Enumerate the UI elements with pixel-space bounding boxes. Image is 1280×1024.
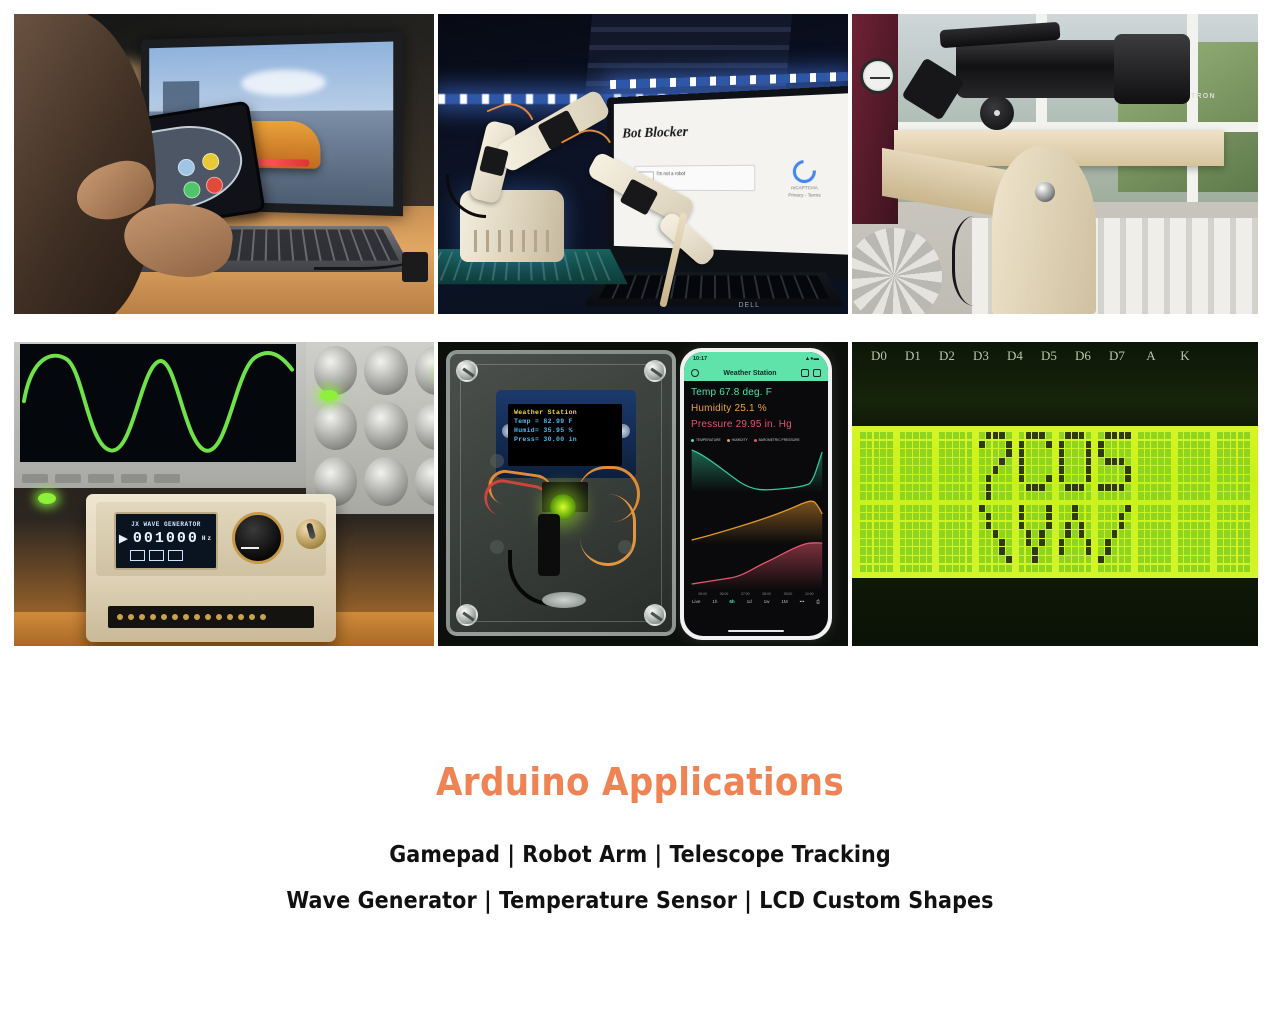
screw-top-right	[644, 360, 666, 382]
subtitle-line-2: Wave Generator | Temperature Sensor | LC…	[0, 888, 1280, 914]
setting-circle-dial	[860, 58, 896, 94]
pin-label: D2	[930, 348, 964, 364]
lcd-character	[860, 432, 893, 500]
button-red[interactable]	[205, 175, 224, 194]
lcd-character	[1217, 505, 1250, 573]
lcd-frequency-unit: Hz	[202, 535, 213, 542]
page-title: Arduino Applications	[0, 760, 1280, 804]
pin-label: D5	[1032, 348, 1066, 364]
focus-knob[interactable]	[980, 96, 1014, 130]
lcd-character	[1019, 505, 1052, 573]
range-live[interactable]: Live	[692, 599, 700, 604]
captcha-label: I'm not a robot	[656, 171, 685, 177]
pin-label: D7	[1100, 348, 1134, 364]
share-icon[interactable]	[813, 369, 821, 377]
chart-icon[interactable]	[801, 369, 809, 377]
chart-legend: TEMPERATURE HUMIDITY BAROMETRIC PRESSURE	[684, 438, 828, 442]
more-icon[interactable]: •••	[800, 599, 805, 604]
reading-temperature: Temp 67.8 deg. F	[691, 387, 821, 398]
oled-line-temp: Temp = 82.99 F	[514, 417, 616, 426]
recaptcha-terms: Privacy - Terms	[784, 192, 826, 198]
sine-waveform	[20, 344, 296, 462]
screw-top-left	[456, 360, 478, 382]
reading-pressure: Pressure 29.95 in. Hg	[691, 419, 821, 430]
legend-pressure: BAROMETRIC PRESSURE	[754, 438, 800, 442]
wave-generator-lcd: JX WAVE GENERATOR ▶ 001000 Hz	[114, 512, 218, 570]
laptop-screen: Bot Blocker I'm not a robot reCAPTCHA Pr…	[614, 93, 848, 255]
image-gallery-grid: Bot Blocker I'm not a robot reCAPTCHA Pr…	[14, 14, 1266, 646]
oscilloscope-screen	[20, 344, 296, 462]
square-icon	[149, 550, 164, 561]
history-icon[interactable]	[691, 369, 699, 377]
lcd-cursor-icon: ▶	[119, 529, 130, 548]
caption-block: Arduino Applications Gamepad | Robot Arm…	[0, 760, 1280, 934]
lcd-pcb-top: D0 D1 D2 D3 D4 D5 D6 D7 A K	[852, 342, 1258, 426]
lcd-character	[1019, 432, 1052, 500]
readings-panel: Temp 67.8 deg. F Humidity 25.1 % Pressur…	[684, 381, 828, 437]
gallery-tile-weather-station[interactable]: Weather Station Temp = 82.99 F Humid= 35…	[438, 342, 848, 646]
laptop-brand: DELL	[738, 302, 760, 309]
action-buttons[interactable]	[176, 152, 224, 200]
lcd-character	[1098, 505, 1131, 573]
gallery-tile-wave-generator[interactable]: JX WAVE GENERATOR ▶ 001000 Hz	[14, 342, 434, 646]
subtitle-line-1: Gamepad | Robot Arm | Telescope Tracking	[0, 842, 1280, 868]
pin-label: A	[1134, 348, 1168, 364]
smartphone[interactable]: 10:17 ▲●▬ Weather Station Temp 67.8 deg.…	[680, 348, 832, 640]
lcd-character	[1138, 505, 1171, 573]
x-tick: 09:00	[784, 592, 793, 596]
gallery-tile-gamepad[interactable]	[14, 14, 434, 314]
range-1w[interactable]: 1w	[764, 599, 770, 604]
lcd-character	[979, 505, 1012, 573]
pin-label: D0	[862, 348, 896, 364]
gallery-tile-robot-arm[interactable]: Bot Blocker I'm not a robot reCAPTCHA Pr…	[438, 14, 848, 314]
trend-charts	[684, 444, 828, 592]
x-tick: 06:00	[720, 592, 729, 596]
lcd-character	[939, 505, 972, 573]
waveform-icon-row	[130, 550, 202, 561]
lcd-character	[939, 432, 972, 500]
phone-screen[interactable]: 10:17 ▲●▬ Weather Station Temp 67.8 deg.…	[684, 352, 828, 636]
lcd-glass-panel	[852, 426, 1258, 578]
lcd-title: JX WAVE GENERATOR	[131, 521, 201, 528]
gallery-tile-lcd-shapes[interactable]: D0 D1 D2 D3 D4 D5 D6 D7 A K	[852, 342, 1258, 646]
status-bar: 10:17 ▲●▬	[684, 352, 828, 365]
cable-gland	[542, 592, 586, 608]
lcd-character	[979, 432, 1012, 500]
range-1M[interactable]: 1M	[781, 599, 787, 604]
lcd-character	[1138, 432, 1171, 500]
legend-humidity: HUMIDITY	[727, 438, 748, 442]
lcd-character	[1059, 505, 1092, 573]
status-icons: ▲●▬	[805, 356, 819, 362]
x-tick: 07:00	[741, 592, 750, 596]
screw-bottom-right	[644, 604, 666, 626]
wave-generator-enclosure: JX WAVE GENERATOR ▶ 001000 Hz	[86, 494, 336, 642]
recaptcha-icon	[788, 155, 820, 187]
lcd-character	[860, 505, 893, 573]
oled-display: Weather Station Temp = 82.99 F Humid= 35…	[508, 404, 622, 466]
pin-label: D3	[964, 348, 998, 364]
pin-label: D4	[998, 348, 1032, 364]
home-indicator	[728, 630, 784, 633]
toggle-switch[interactable]	[296, 519, 326, 549]
standoff-hole-3	[618, 540, 632, 554]
orange-wire-3	[580, 494, 636, 566]
range-6h[interactable]: 6h	[729, 599, 734, 604]
range-1d[interactable]: 1d	[747, 599, 752, 604]
ramp-icon	[130, 550, 145, 561]
lcd-frequency-value: 001000	[133, 530, 199, 547]
motor-cable	[952, 216, 1008, 306]
oled-line-humidity: Humid= 35.95 %	[514, 426, 616, 435]
control-knobs[interactable]	[314, 346, 434, 506]
screw-bottom-left	[456, 604, 478, 626]
recaptcha-badge: reCAPTCHA Privacy - Terms	[784, 160, 826, 198]
weather-station-enclosure: Weather Station Temp = 82.99 F Humid= 35…	[446, 350, 676, 636]
lcd-row	[856, 432, 1254, 500]
export-icon[interactable]: ⎙	[816, 599, 820, 604]
lcd-character	[900, 505, 933, 573]
sine-icon	[187, 550, 202, 561]
pin-label-row: D0 D1 D2 D3 D4 D5 D6 D7 A K	[862, 348, 1202, 364]
reading-humidity: Humidity 25.1 %	[691, 403, 821, 414]
range-selector[interactable]: Live 1h 6h 1d 1w 1M ••• ⎙	[684, 596, 828, 607]
button-green[interactable]	[182, 180, 201, 199]
power-led	[38, 493, 56, 504]
poster-page: Bot Blocker I'm not a robot reCAPTCHA Pr…	[0, 0, 1280, 1024]
charts-svg	[684, 444, 828, 592]
oscilloscope	[14, 342, 308, 488]
lcd-pcb-bottom	[852, 578, 1258, 646]
lcd-character	[1059, 432, 1092, 500]
button-blue[interactable]	[176, 158, 195, 177]
app-title: Weather Station	[723, 370, 776, 377]
pivot-bolt	[1035, 182, 1055, 202]
legend-temperature: TEMPERATURE	[691, 438, 721, 442]
oscilloscope-buttons[interactable]	[22, 474, 180, 483]
x-tick: 10:00	[805, 592, 814, 596]
status-clock: 10:17	[693, 356, 707, 362]
lcd-character	[1178, 432, 1211, 500]
lcd-frequency: ▶ 001000 Hz	[119, 529, 213, 548]
range-1h[interactable]: 1h	[712, 599, 717, 604]
standoff-hole-1	[490, 454, 504, 468]
oled-line-pressure: Press= 30.00 in	[514, 435, 616, 444]
rotary-encoder-knob[interactable]	[232, 512, 284, 564]
lcd-character	[900, 432, 933, 500]
recaptcha-label: reCAPTCHA	[784, 185, 826, 190]
channel-led-1	[320, 390, 338, 401]
lcd-character	[1178, 505, 1211, 573]
pin-label: D6	[1066, 348, 1100, 364]
lcd-character	[1217, 432, 1250, 500]
pin-label: K	[1168, 348, 1202, 364]
game-smoke	[242, 69, 326, 96]
app-nav-bar: Weather Station	[684, 365, 828, 381]
usb-dongle	[402, 252, 428, 282]
dc-icon	[168, 550, 183, 561]
button-yellow[interactable]	[201, 152, 220, 171]
standoff-hole-2	[490, 540, 504, 554]
pin-header-strip	[108, 606, 314, 628]
pin-label: D1	[896, 348, 930, 364]
lcd-character	[1098, 432, 1131, 500]
screen-title: Bot Blocker	[622, 124, 688, 142]
x-tick: 08:00	[762, 592, 771, 596]
x-tick: 05:00	[698, 592, 707, 596]
telescope-dew-shield	[1114, 34, 1190, 104]
oscilloscope-control-panel[interactable]	[306, 342, 434, 514]
gallery-tile-telescope[interactable]: CELESTRON	[852, 14, 1258, 314]
oled-line-title: Weather Station	[514, 408, 616, 417]
lcd-row	[856, 505, 1254, 573]
